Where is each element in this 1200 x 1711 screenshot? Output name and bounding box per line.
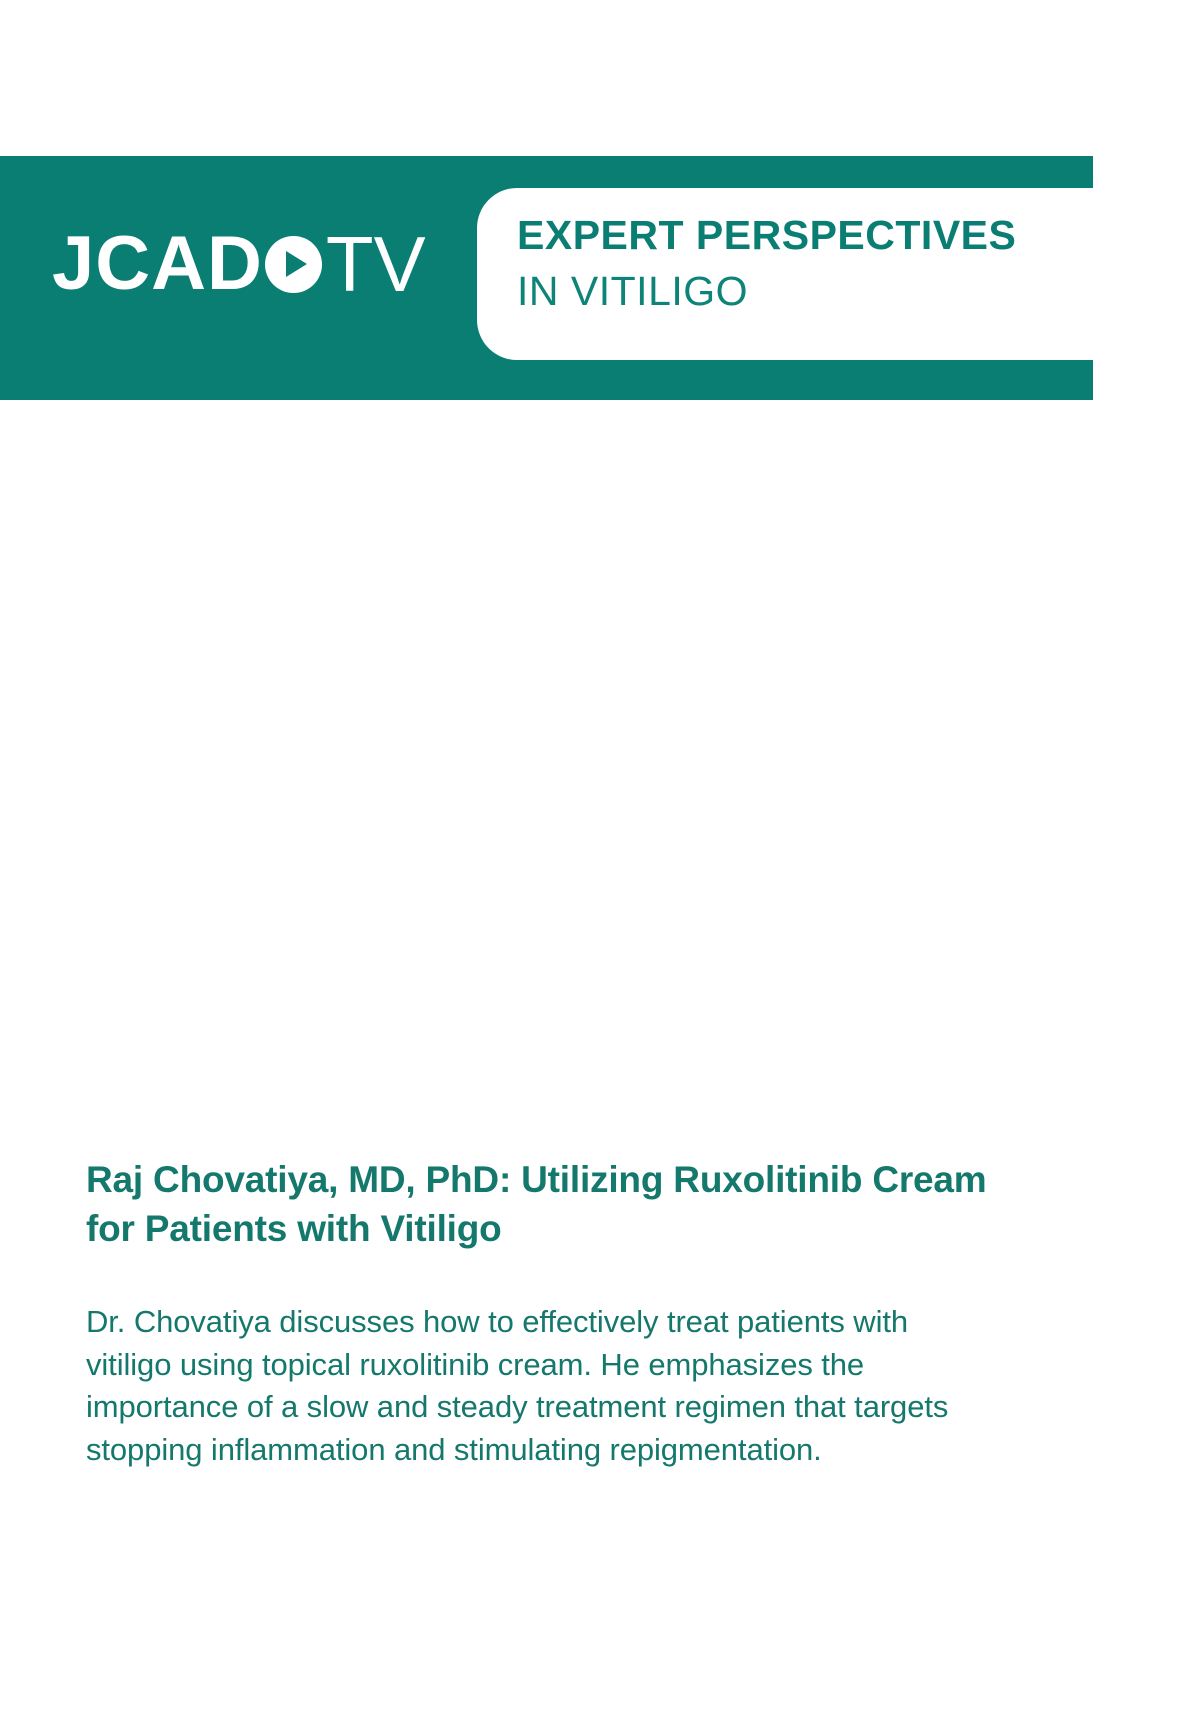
article-title: Raj Chovatiya, MD, PhD: Utilizing Ruxoli… [86,1155,991,1253]
brand-name-primary: JCAD [52,226,263,302]
series-title-text-group: EXPERT PERSPECTIVES IN VITILIGO [517,210,1200,316]
article-block: Raj Chovatiya, MD, PhD: Utilizing Ruxoli… [86,1155,1016,1471]
series-title-line-2: IN VITILIGO [517,266,1200,316]
series-title-line-1: EXPERT PERSPECTIVES [517,210,1200,260]
video-stage-area[interactable] [0,400,1200,1160]
play-circle-icon [265,236,322,293]
article-description: Dr. Chovatiya discusses how to effective… [86,1301,1001,1471]
brand-name-secondary: TV [326,225,426,303]
page-canvas: JCAD TV EXPERT PERSPECTIVES IN VITILIGO … [0,0,1200,1711]
brand-logo-jcad-tv[interactable]: JCAD TV [52,222,426,306]
series-title-plaque: EXPERT PERSPECTIVES IN VITILIGO [477,188,1200,360]
